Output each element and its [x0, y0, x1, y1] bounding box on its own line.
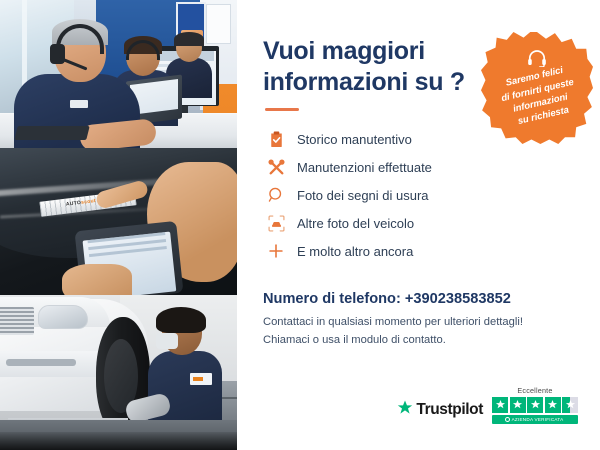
car-inspection-ruler-tablet-photo: AUTOscout [0, 148, 237, 295]
star-half-icon [562, 397, 578, 413]
crossed-tools-icon [263, 159, 289, 176]
mechanic-wheel-inspection-photo [0, 295, 237, 450]
star-icon [492, 397, 508, 413]
list-item: Foto dei segni di usura [263, 181, 574, 209]
list-item: E molto altro ancora [263, 237, 574, 265]
phone-number[interactable]: +390238583852 [405, 291, 511, 307]
trustpilot-brand: Trustpilot [397, 400, 483, 424]
contact-sub-line-2: Chiamaci o usa il modulo di contatto. [263, 332, 574, 349]
request-info-badge: Saremo felici di fornirti queste informa… [481, 32, 593, 144]
headline-line-1: Vuoi maggiori [263, 36, 478, 67]
photo-strip: AUTOscout [0, 0, 237, 450]
check-circle-icon [505, 417, 510, 422]
clipboard-check-icon [263, 131, 289, 148]
trustpilot-star-icon [397, 400, 413, 420]
rating-text: Eccellente [517, 386, 552, 395]
contact-sub-line-1: Contattaci in qualsiasi momento per ulte… [263, 314, 574, 331]
star-icon [527, 397, 543, 413]
list-item-label: Foto dei segni di usura [297, 188, 429, 203]
status-badge: AZIENDA VERIFICATA [492, 415, 578, 424]
star-icon [510, 397, 526, 413]
phone-label: Numero di telefono: [263, 291, 401, 307]
magnifier-icon [263, 187, 289, 203]
list-item-label: Altre foto del veicolo [297, 216, 414, 231]
call-center-agents-photo [0, 0, 237, 148]
page-title: Vuoi maggiori informazioni su ? [263, 36, 478, 97]
trustpilot-wordmark: Trustpilot [416, 401, 483, 419]
list-item-label: E molto altro ancora [297, 244, 413, 259]
plus-icon [263, 243, 289, 259]
star-icon [545, 397, 561, 413]
list-item: Altre foto del veicolo [263, 209, 574, 237]
list-item: Manutenzioni effettuate [263, 153, 574, 181]
content-panel: Saremo felici di fornirti queste informa… [237, 0, 600, 450]
phone-line: Numero di telefono: +390238583852 [263, 291, 574, 307]
trustpilot-widget[interactable]: Trustpilot Eccellente [397, 386, 578, 425]
promo-banner: AUTOscout [0, 0, 600, 450]
star-rating [492, 397, 578, 413]
trustpilot-rating: Eccellente [492, 386, 578, 425]
title-divider [265, 108, 299, 111]
list-item-label: Storico manutentivo [297, 132, 412, 147]
badge-text-block: Saremo felici di fornirti queste informa… [470, 21, 600, 155]
car-frame-icon [263, 215, 289, 232]
headline-line-2: informazioni su ? [263, 67, 478, 98]
contact-block: Numero di telefono: +390238583852 Contat… [263, 291, 574, 350]
verified-label: AZIENDA VERIFICATA [512, 417, 564, 422]
list-item-label: Manutenzioni effettuate [297, 160, 432, 175]
